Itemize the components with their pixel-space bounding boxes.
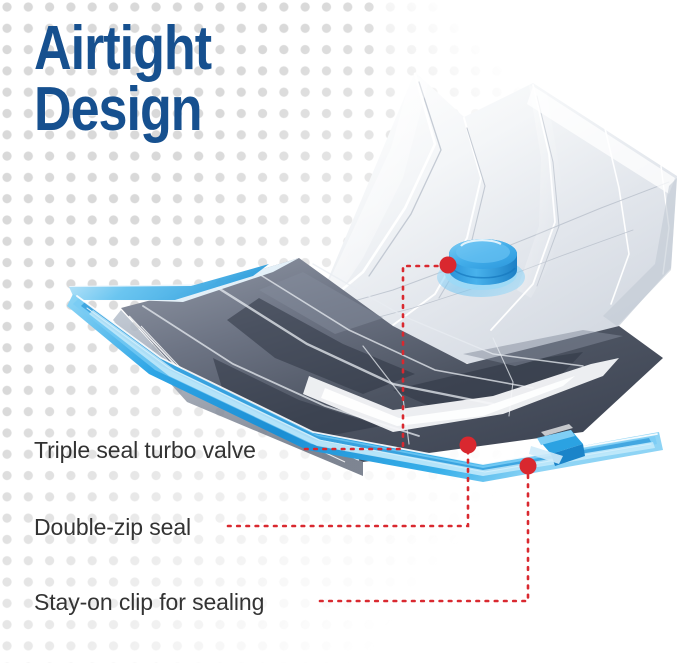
callout-label-double-zip-seal: Double-zip seal <box>34 514 191 541</box>
red-dot-marker-icon-clip <box>520 458 537 475</box>
callout-line-zip <box>228 452 468 526</box>
callout-line-clip <box>320 473 528 601</box>
product-feature-graphic: Airtight Design <box>0 0 679 663</box>
callout-label-stay-on-clip-for-sealing: Stay-on clip for sealing <box>34 589 264 616</box>
callout-line-valve <box>305 266 441 449</box>
red-dot-marker-icon-zip <box>460 437 477 454</box>
callout-label-triple-seal-turbo-valve: Triple seal turbo valve <box>34 437 256 464</box>
red-dot-marker-icon-valve <box>440 257 457 274</box>
callout-overlay <box>0 0 679 663</box>
callout-markers <box>440 257 537 475</box>
